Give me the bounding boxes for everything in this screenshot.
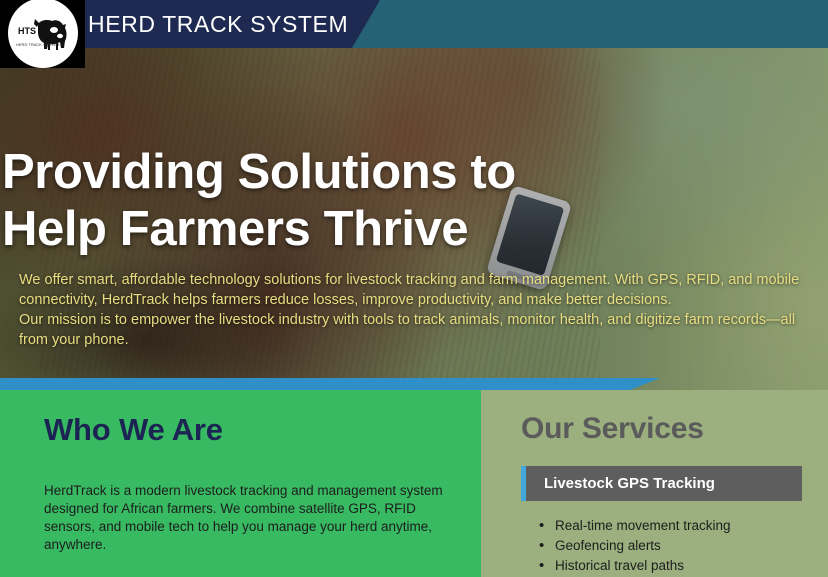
hero-heading-line-1: Providing Solutions to (2, 144, 702, 201)
svg-text:HERD TRACK SYSTEM: HERD TRACK SYSTEM (16, 42, 60, 47)
section-divider (0, 378, 828, 390)
cow-logo-icon: HTS HERD TRACK SYSTEM (14, 10, 72, 56)
hero-paragraph-2: Our mission is to empower the livestock … (19, 310, 819, 350)
logo-circle: HTS HERD TRACK SYSTEM (8, 0, 78, 68)
hero-paragraph-1: We offer smart, affordable technology so… (19, 270, 819, 310)
who-we-are-section: Who We Are HerdTrack is a modern livesto… (0, 390, 481, 577)
hero-body-text: We offer smart, affordable technology so… (19, 270, 819, 350)
who-we-are-title: Who We Are (44, 412, 223, 448)
list-item: Real-time movement tracking (531, 516, 821, 536)
who-we-are-body: HerdTrack is a modern livestock tracking… (44, 482, 444, 554)
hero-heading-line-2: Help Farmers Thrive (2, 201, 702, 258)
our-services-title: Our Services (521, 412, 704, 446)
service-card-label: Livestock GPS Tracking (544, 475, 715, 492)
service-feature-list: Real-time movement tracking Geofencing a… (531, 516, 821, 576)
page-root: HTS HERD TRACK SYSTEM HERD TRACK SYSTEM … (0, 0, 828, 577)
logo-badge[interactable]: HTS HERD TRACK SYSTEM (0, 0, 85, 68)
our-services-section: Our Services Livestock GPS Tracking Real… (481, 390, 828, 577)
service-card-accent-bar (521, 466, 526, 501)
service-card-livestock-gps-tracking[interactable]: Livestock GPS Tracking (521, 466, 802, 501)
divider-blue-bar (0, 378, 660, 390)
svg-text:HTS: HTS (18, 26, 36, 36)
list-item: Historical travel paths (531, 556, 821, 576)
list-item: Geofencing alerts (531, 536, 821, 556)
brand-title: HERD TRACK SYSTEM (88, 11, 348, 38)
hero-heading: Providing Solutions to Help Farmers Thri… (2, 144, 702, 259)
